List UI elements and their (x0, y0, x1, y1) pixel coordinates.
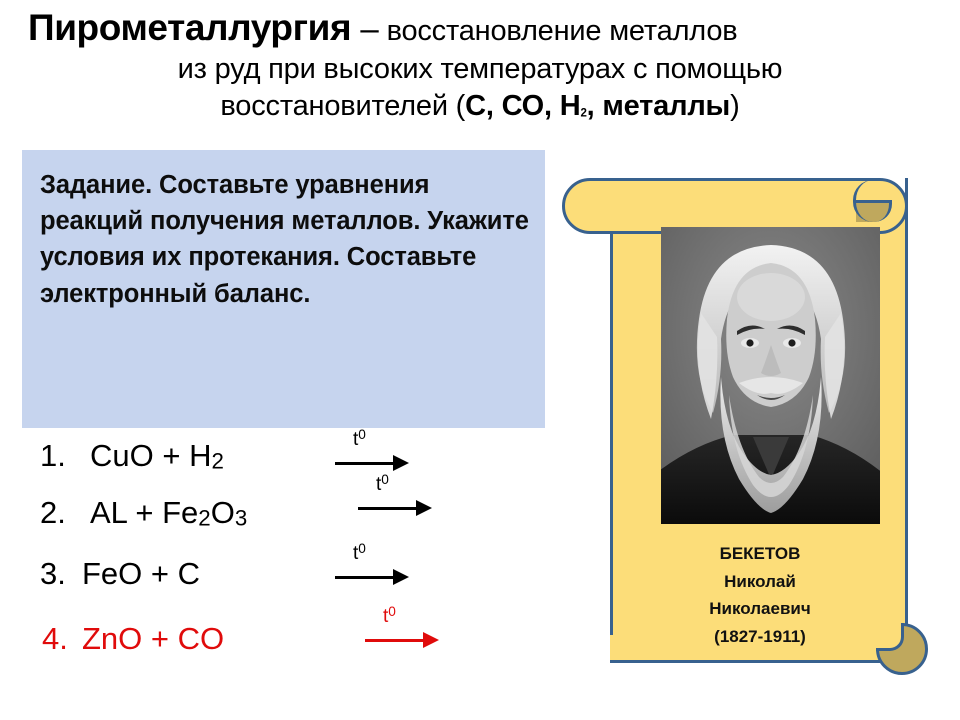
arrow-temperature-label-1: t0 (353, 428, 366, 449)
equation-number-3: 3. (40, 556, 66, 592)
equation-formula-3: FeO + C (82, 556, 200, 592)
equation-row-4: 4. ZnO + CO t0 (40, 609, 510, 666)
equation-number-2: 2. (40, 495, 66, 531)
arrow-line-1 (335, 462, 399, 465)
arrow-head-4 (423, 632, 439, 648)
title-term: Пирометаллургия (28, 7, 351, 48)
arrow-line-2 (358, 507, 422, 510)
portrait-caption: БЕКЕТОВ Николай Николаевич (1827-1911) (620, 540, 900, 650)
title-line-3: восстановителей (С, СО, Н2, металлы) (8, 88, 952, 125)
portrait-image (661, 227, 880, 524)
arrow-temperature-label-4: t0 (383, 605, 396, 626)
reaction-arrow-4: t0 (365, 609, 461, 663)
title-line-1: Пирометаллургия – восстановление металло… (8, 4, 952, 51)
title-dash: – (360, 10, 378, 47)
arrow-temperature-label-3: t0 (353, 542, 366, 563)
title-line-1-rest: восстановление металлов (387, 15, 738, 47)
equation-formula-4: ZnO + CO (82, 621, 224, 657)
title-reductants-b: , металлы (587, 90, 730, 122)
title-line-3-prefix: восстановителей ( (220, 90, 465, 122)
portrait-photo (661, 227, 880, 524)
equation-number-1: 1. (40, 438, 66, 474)
arrow-head-2 (416, 500, 432, 516)
equation-sub-2b: 3 (235, 506, 247, 531)
title-reductants-a: С, СО, Н (465, 90, 580, 122)
equation-sub-1: 2 (211, 449, 223, 474)
equation-row-3: 3. FeO + C t0 (40, 552, 510, 609)
equation-sub-2a: 2 (198, 506, 210, 531)
equation-formula-1: CuO + H2 (90, 438, 224, 475)
equation-list: 1. CuO + H2 t0 2. AL + Fe2O3 t0 3. FeO +… (40, 438, 510, 666)
task-box: Задание. Составьте уравнения реакций пол… (22, 150, 545, 428)
scroll-panel: БЕКЕТОВ Николай Николаевич (1827-1911) (560, 168, 958, 708)
arrow-line-4 (365, 639, 429, 642)
title-line-2: из руд при высоких температурах с помощь… (8, 51, 952, 88)
arrow-temperature-label-2: t0 (376, 473, 389, 494)
arrow-line-3 (335, 576, 399, 579)
reaction-arrow-3: t0 (335, 546, 431, 600)
equation-row-2: 2. AL + Fe2O3 t0 (40, 495, 510, 552)
equation-number-4: 4. (42, 621, 68, 657)
arrow-head-3 (393, 569, 409, 585)
page-title: Пирометаллургия – восстановление металло… (8, 4, 952, 126)
task-text: Задание. Составьте уравнения реакций пол… (40, 167, 535, 312)
arrow-head-1 (393, 455, 409, 471)
title-line-3-suffix: ) (730, 90, 739, 122)
scroll-top-curl-outline (853, 180, 893, 222)
equation-formula-2: AL + Fe2O3 (90, 495, 247, 532)
reaction-arrow-2: t0 (358, 477, 454, 531)
